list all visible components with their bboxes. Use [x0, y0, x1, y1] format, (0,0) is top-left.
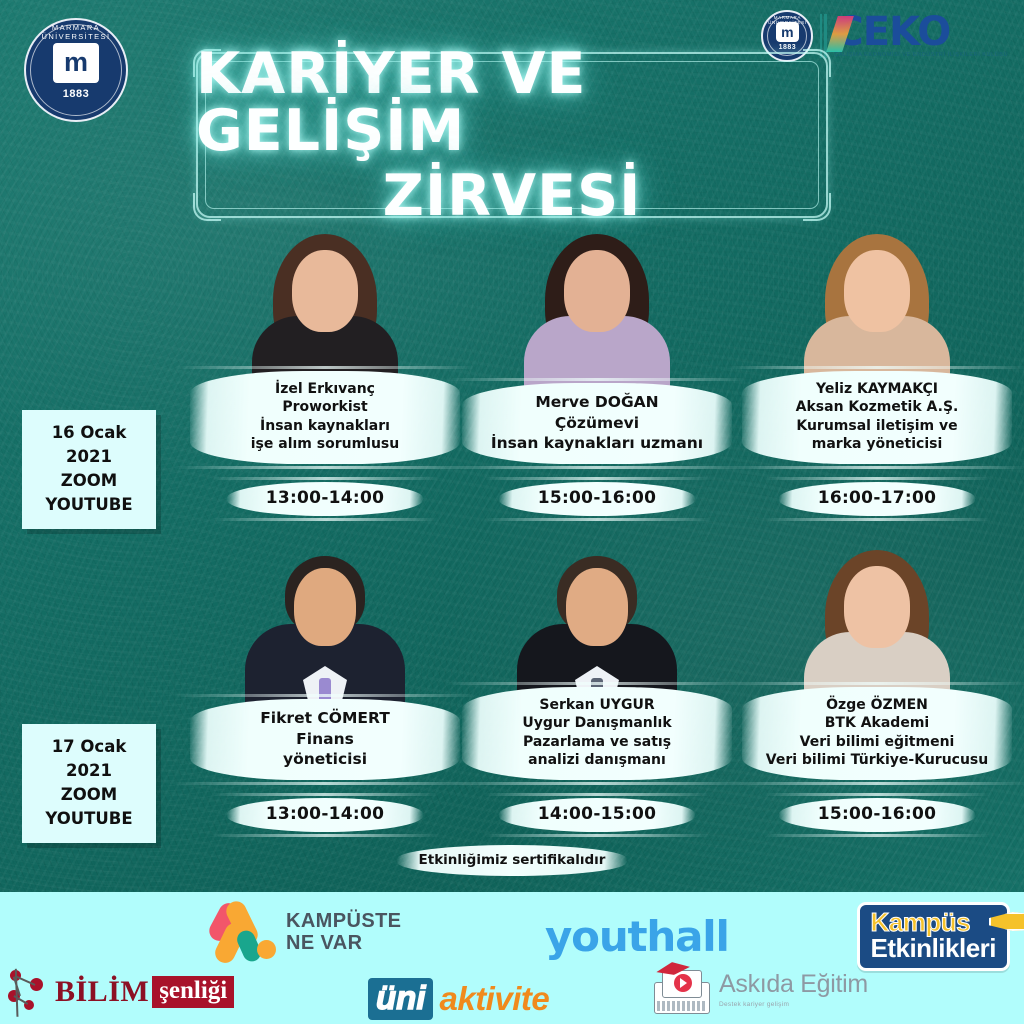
- date-text: 16 Ocak 2021: [26, 421, 152, 469]
- bilim-senligi-wordmark: BİLİM şenliği: [55, 975, 234, 1009]
- title-plaque: KARİYER VE GELİŞİM ZİRVESİ: [196, 52, 828, 218]
- speaker-detail-line: Finans: [190, 729, 460, 750]
- page-title: KARİYER VE GELİŞİM ZİRVESİ: [196, 52, 828, 218]
- speaker-name: İzel Erkıvanç: [190, 380, 460, 399]
- speaker-detail-line: BTK Akademi: [742, 714, 1012, 733]
- marmara-university-logo-icon: MARMARA ÜNİVERSİTESİ m 1883: [24, 18, 128, 122]
- face-shape: [566, 568, 628, 646]
- face-shape: [844, 250, 910, 332]
- kampus-line-1: Kampüs: [871, 910, 997, 935]
- speaker-name: Yeliz KAYMAKÇI: [742, 380, 1012, 399]
- speaker-detail-line: İnsan kaynakları: [190, 417, 460, 436]
- speaker-time-panel: 15:00-16:00: [499, 482, 695, 516]
- speaker-time-panel: 15:00-16:00: [779, 798, 975, 832]
- sponsor-askida-egitim[interactable]: Askıda Eğitim Destek kariyer gelişim: [650, 962, 868, 1016]
- knv-line-2: NE VAR: [286, 932, 401, 954]
- speaker-detail-line: Pazarlama ve satış: [462, 733, 732, 752]
- speaker-detail-line: İnsan kaynakları uzmanı: [462, 433, 732, 454]
- speaker-time: 13:00-14:00: [227, 487, 423, 510]
- molecule-icon: [6, 966, 52, 1018]
- face-shape: [294, 568, 356, 646]
- certificate-note: Etkinliğimiz sertifikalıdır: [397, 845, 627, 876]
- speaker-detail-line: analizi danışmanı: [462, 751, 732, 770]
- ceko-wordmark: CEKO: [834, 14, 950, 50]
- ceko-slash-icon: [827, 16, 855, 52]
- logo-arc-text-small: MARMARA ÜNİVERSİTESİ: [763, 15, 811, 25]
- speaker-info-panel: Özge ÖZMENBTK AkademiVeri bilimi eğitmen…: [742, 687, 1012, 780]
- speaker-card: Özge ÖZMENBTK AkademiVeri bilimi eğitmen…: [730, 538, 1024, 838]
- speaker-info-panel: Serkan UYGURUygur DanışmanlıkPazarlama v…: [462, 687, 732, 780]
- megaphone-icon: [989, 903, 1024, 937]
- platform-zoom: ZOOM: [26, 469, 152, 493]
- date-badge: 17 Ocak 2021ZOOMYOUTUBE: [22, 724, 156, 843]
- speaker-info-panel: Yeliz KAYMAKÇIAksan Kozmetik A.Ş.Kurumsa…: [742, 371, 1012, 464]
- speaker-info-panel: İzel ErkıvançProworkistİnsan kaynaklarıi…: [190, 371, 460, 464]
- speaker-card: İzel ErkıvançProworkistİnsan kaynaklarıi…: [178, 222, 472, 522]
- speaker-info-panel: Merve DOĞANÇözümeviİnsan kaynakları uzma…: [462, 383, 732, 464]
- aktivite-word: aktivite: [439, 980, 549, 1018]
- speaker-card: Merve DOĞANÇözümeviİnsan kaynakları uzma…: [450, 222, 744, 522]
- ceko-subtitle: ÇALIŞMA EKONOMİSİ VE ENDÜSTRİ İLİŞKİLERİ…: [834, 52, 1008, 58]
- speaker-card: Serkan UYGURUygur DanışmanlıkPazarlama v…: [450, 538, 744, 838]
- speaker-card: Fikret CÖMERTFinansyöneticisi13:00-14:00: [178, 538, 472, 838]
- event-poster: MARMARA ÜNİVERSİTESİ m 1883 MARMARA ÜNİV…: [0, 0, 1024, 1024]
- platform-youtube: YOUTUBE: [26, 493, 152, 517]
- speaker-name: Merve DOĞAN: [462, 392, 732, 413]
- speaker-card: Yeliz KAYMAKÇIAksan Kozmetik A.Ş.Kurumsa…: [730, 222, 1024, 522]
- kampus-etkinlikleri-wordmark: Kampüs Etkinlikleri: [857, 902, 1011, 971]
- knv-line-1: KAMPÜSTE: [286, 910, 401, 932]
- sponsor-kampus-etkinlikleri[interactable]: Kampüs Etkinlikleri: [857, 902, 1011, 971]
- speaker-time: 15:00-16:00: [499, 487, 695, 510]
- title-line-2: ZİRVESİ: [383, 168, 642, 225]
- speaker-detail-line: Kurumsal iletişim ve: [742, 417, 1012, 436]
- speaker-info-panel: Fikret CÖMERTFinansyöneticisi: [190, 699, 460, 780]
- logo-arc-text: MARMARA ÜNİVERSİTESİ: [26, 23, 126, 41]
- face-shape: [292, 250, 358, 332]
- kampuste-ne-var-wordmark: KAMPÜSTE NE VAR: [286, 910, 401, 955]
- speaker-name: Fikret CÖMERT: [190, 708, 460, 729]
- speaker-name: Özge ÖZMEN: [742, 696, 1012, 715]
- kampuste-k-logo-icon: [212, 900, 276, 964]
- sponsor-uni-aktivite[interactable]: üni aktivite: [368, 978, 549, 1020]
- bilim-word-2: şenliği: [152, 976, 234, 1008]
- speaker-time-panel: 16:00-17:00: [779, 482, 975, 516]
- face-shape: [564, 250, 630, 332]
- platform-youtube: YOUTUBE: [26, 807, 152, 831]
- askida-tagline: Destek kariyer gelişim: [719, 1001, 868, 1008]
- title-line-1: KARİYER VE GELİŞİM: [196, 46, 828, 160]
- speaker-detail-line: marka yöneticisi: [742, 435, 1012, 454]
- schedule-row-day1: 16 Ocak 2021ZOOMYOUTUBEİzel ErkıvançProw…: [0, 222, 1024, 522]
- schedule-row-day2: 17 Ocak 2021ZOOMYOUTUBEFikret CÖMERTFina…: [0, 538, 1024, 838]
- sponsor-youthall[interactable]: youthall: [545, 912, 729, 961]
- face-shape: [844, 566, 910, 648]
- speaker-detail-line: Aksan Kozmetik A.Ş.: [742, 398, 1012, 417]
- sponsor-kampuste-ne-var[interactable]: KAMPÜSTE NE VAR: [212, 900, 401, 964]
- ceko-text-wrap: CEKO ÇALIŞMA EKONOMİSİ VE ENDÜSTRİ İLİŞK…: [834, 14, 1008, 58]
- speaker-time-panel: 13:00-14:00: [227, 482, 423, 516]
- date-text: 17 Ocak 2021: [26, 735, 152, 783]
- sponsor-footer: BİLİM şenliği KAMPÜSTE NE VAR üni aktivi…: [0, 892, 1024, 1024]
- speaker-time-panel: 13:00-14:00: [227, 798, 423, 832]
- speaker-detail-line: Veri bilimi Türkiye-Kurucusu: [742, 751, 1012, 770]
- speaker-time: 13:00-14:00: [227, 803, 423, 826]
- youthall-wordmark: youthall: [545, 912, 729, 961]
- speaker-detail-line: Proworkist: [190, 398, 460, 417]
- speaker-time: 14:00-15:00: [499, 803, 695, 826]
- laptop-graduation-cap-icon: [650, 962, 712, 1016]
- speaker-time: 16:00-17:00: [779, 487, 975, 510]
- bilim-word-1: BİLİM: [55, 975, 149, 1009]
- speaker-detail-line: Çözümevi: [462, 413, 732, 434]
- certificate-note-text: Etkinliğimiz sertifikalıdır: [419, 852, 606, 868]
- speaker-name: Serkan UYGUR: [462, 696, 732, 715]
- kampus-line-2: Etkinlikleri: [871, 935, 997, 961]
- speaker-detail-line: yöneticisi: [190, 749, 460, 770]
- askida-name: Askıda Eğitim: [719, 970, 868, 999]
- speaker-time: 15:00-16:00: [779, 803, 975, 826]
- speaker-detail-line: Veri bilimi eğitmeni: [742, 733, 1012, 752]
- platform-zoom: ZOOM: [26, 783, 152, 807]
- speaker-detail-line: işe alım sorumlusu: [190, 435, 460, 454]
- speaker-detail-line: Uygur Danışmanlık: [462, 714, 732, 733]
- askida-egitim-wordmark: Askıda Eğitim Destek kariyer gelişim: [719, 970, 868, 1008]
- uni-word: üni: [368, 978, 433, 1020]
- date-badge: 16 Ocak 2021ZOOMYOUTUBE: [22, 410, 156, 529]
- sponsor-bilim-senligi[interactable]: BİLİM şenliği: [6, 966, 234, 1018]
- speaker-time-panel: 14:00-15:00: [499, 798, 695, 832]
